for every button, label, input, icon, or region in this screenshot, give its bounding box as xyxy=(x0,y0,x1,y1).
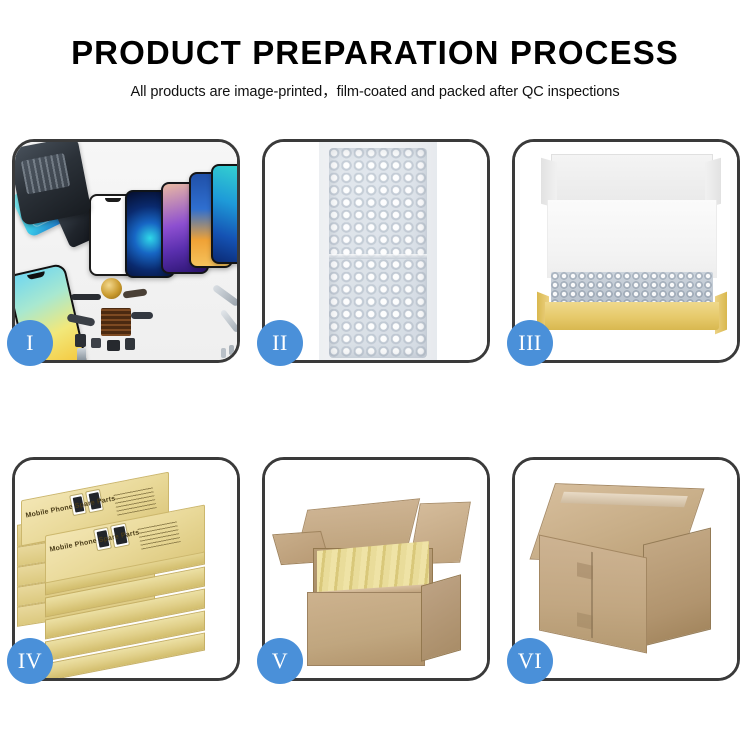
vibration-motor-part xyxy=(101,278,122,299)
step-panel-3: III xyxy=(512,139,740,363)
process-step-grid: I II III xyxy=(12,139,740,682)
page-subtitle: All products are image-printed，film-coat… xyxy=(0,69,750,100)
screwdriver-tool xyxy=(220,309,237,333)
phone-parts-scene xyxy=(15,142,237,360)
bubble-wrapped-contents xyxy=(551,272,713,304)
phone-logic-board xyxy=(15,142,92,226)
carton-front-panel xyxy=(307,592,425,666)
step-image-5 xyxy=(265,460,487,678)
step-badge-2: II xyxy=(257,320,303,366)
step-panel-1: I xyxy=(12,139,240,363)
step-badge-3: III xyxy=(507,320,553,366)
inner-box-scene xyxy=(515,142,737,360)
camera-module-part xyxy=(77,348,86,360)
bubble-wrap-sheet xyxy=(329,148,427,358)
small-component-1 xyxy=(75,334,86,347)
small-component-4 xyxy=(125,338,135,350)
step-badge-6: VI xyxy=(507,638,553,684)
box-interior xyxy=(547,200,717,278)
step-image-4: Mobile Phone Spare Parts Mobile Phone Sp… xyxy=(15,460,237,678)
step-badge-5: V xyxy=(257,638,303,684)
screw-part-1 xyxy=(221,348,226,358)
flex-cable-part-2 xyxy=(123,288,148,298)
box-front-panel xyxy=(545,302,719,330)
bubble-wrap-seam xyxy=(329,254,427,259)
bubble-wrap-scene xyxy=(265,142,487,360)
step-image-6 xyxy=(515,460,737,678)
carton-side-panel xyxy=(421,574,461,661)
step-image-1 xyxy=(15,142,237,360)
small-component-3 xyxy=(107,340,120,351)
step-badge-4: IV xyxy=(7,638,53,684)
step-panel-5: V xyxy=(262,457,490,681)
flex-cable-part-3 xyxy=(131,312,153,319)
page-header: PRODUCT PREPARATION PROCESS All products… xyxy=(0,0,750,120)
teal-phone-screen xyxy=(211,164,237,264)
sealed-carton-scene xyxy=(515,460,737,678)
page-title: PRODUCT PREPARATION PROCESS xyxy=(0,0,750,69)
retail-box-stack-scene: Mobile Phone Spare Parts Mobile Phone Sp… xyxy=(15,460,237,678)
screw-part-2 xyxy=(229,345,234,355)
speaker-part xyxy=(71,294,101,300)
sealed-carton-side xyxy=(643,528,711,647)
connector-grid-part xyxy=(101,308,131,336)
step-image-2 xyxy=(265,142,487,360)
small-component-2 xyxy=(91,338,101,348)
step-image-3 xyxy=(515,142,737,360)
tweezers-tool xyxy=(212,284,237,307)
open-carton-scene xyxy=(265,460,487,678)
step-panel-4: Mobile Phone Spare Parts Mobile Phone Sp… xyxy=(12,457,240,681)
step-badge-1: I xyxy=(7,320,53,366)
step-panel-2: II xyxy=(262,139,490,363)
step-panel-6: VI xyxy=(512,457,740,681)
